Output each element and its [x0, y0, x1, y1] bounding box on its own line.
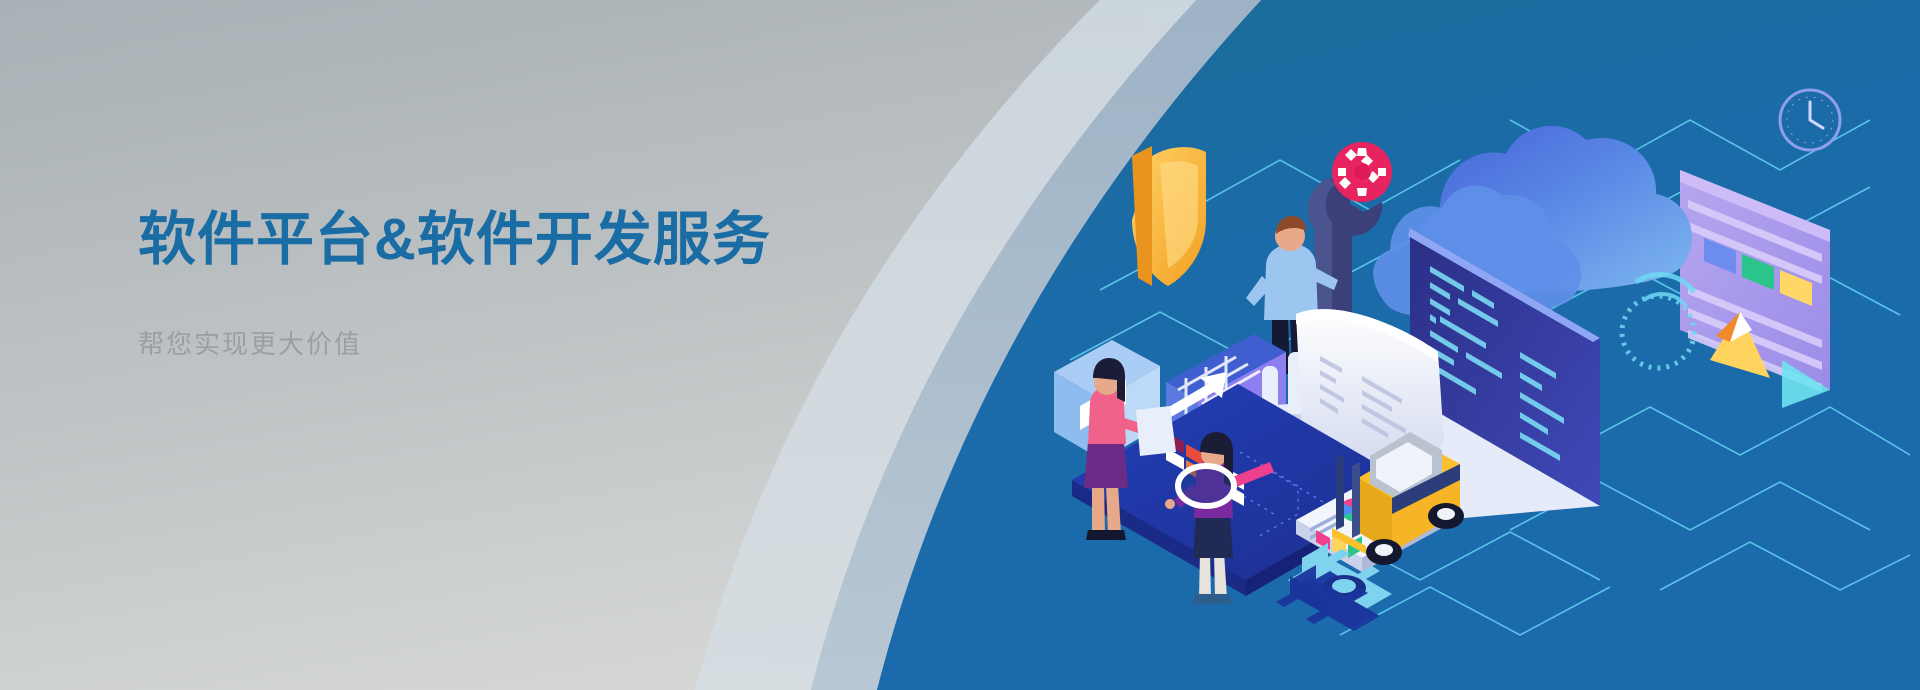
security-shield-icon [1132, 146, 1206, 286]
hero-banner: 软件平台&软件开发服务 帮您实现更大价值 [0, 0, 1920, 690]
banner-copy: 软件平台&软件开发服务 帮您实现更大价值 [138, 206, 898, 363]
clock-icon [1780, 90, 1840, 150]
page-title: 软件平台&软件开发服务 [138, 206, 898, 274]
hero-illustration [1040, 60, 1920, 660]
page-subtitle: 帮您实现更大价值 [138, 274, 898, 362]
settings-gear-icon [1332, 142, 1392, 202]
document-panel [1680, 170, 1830, 408]
